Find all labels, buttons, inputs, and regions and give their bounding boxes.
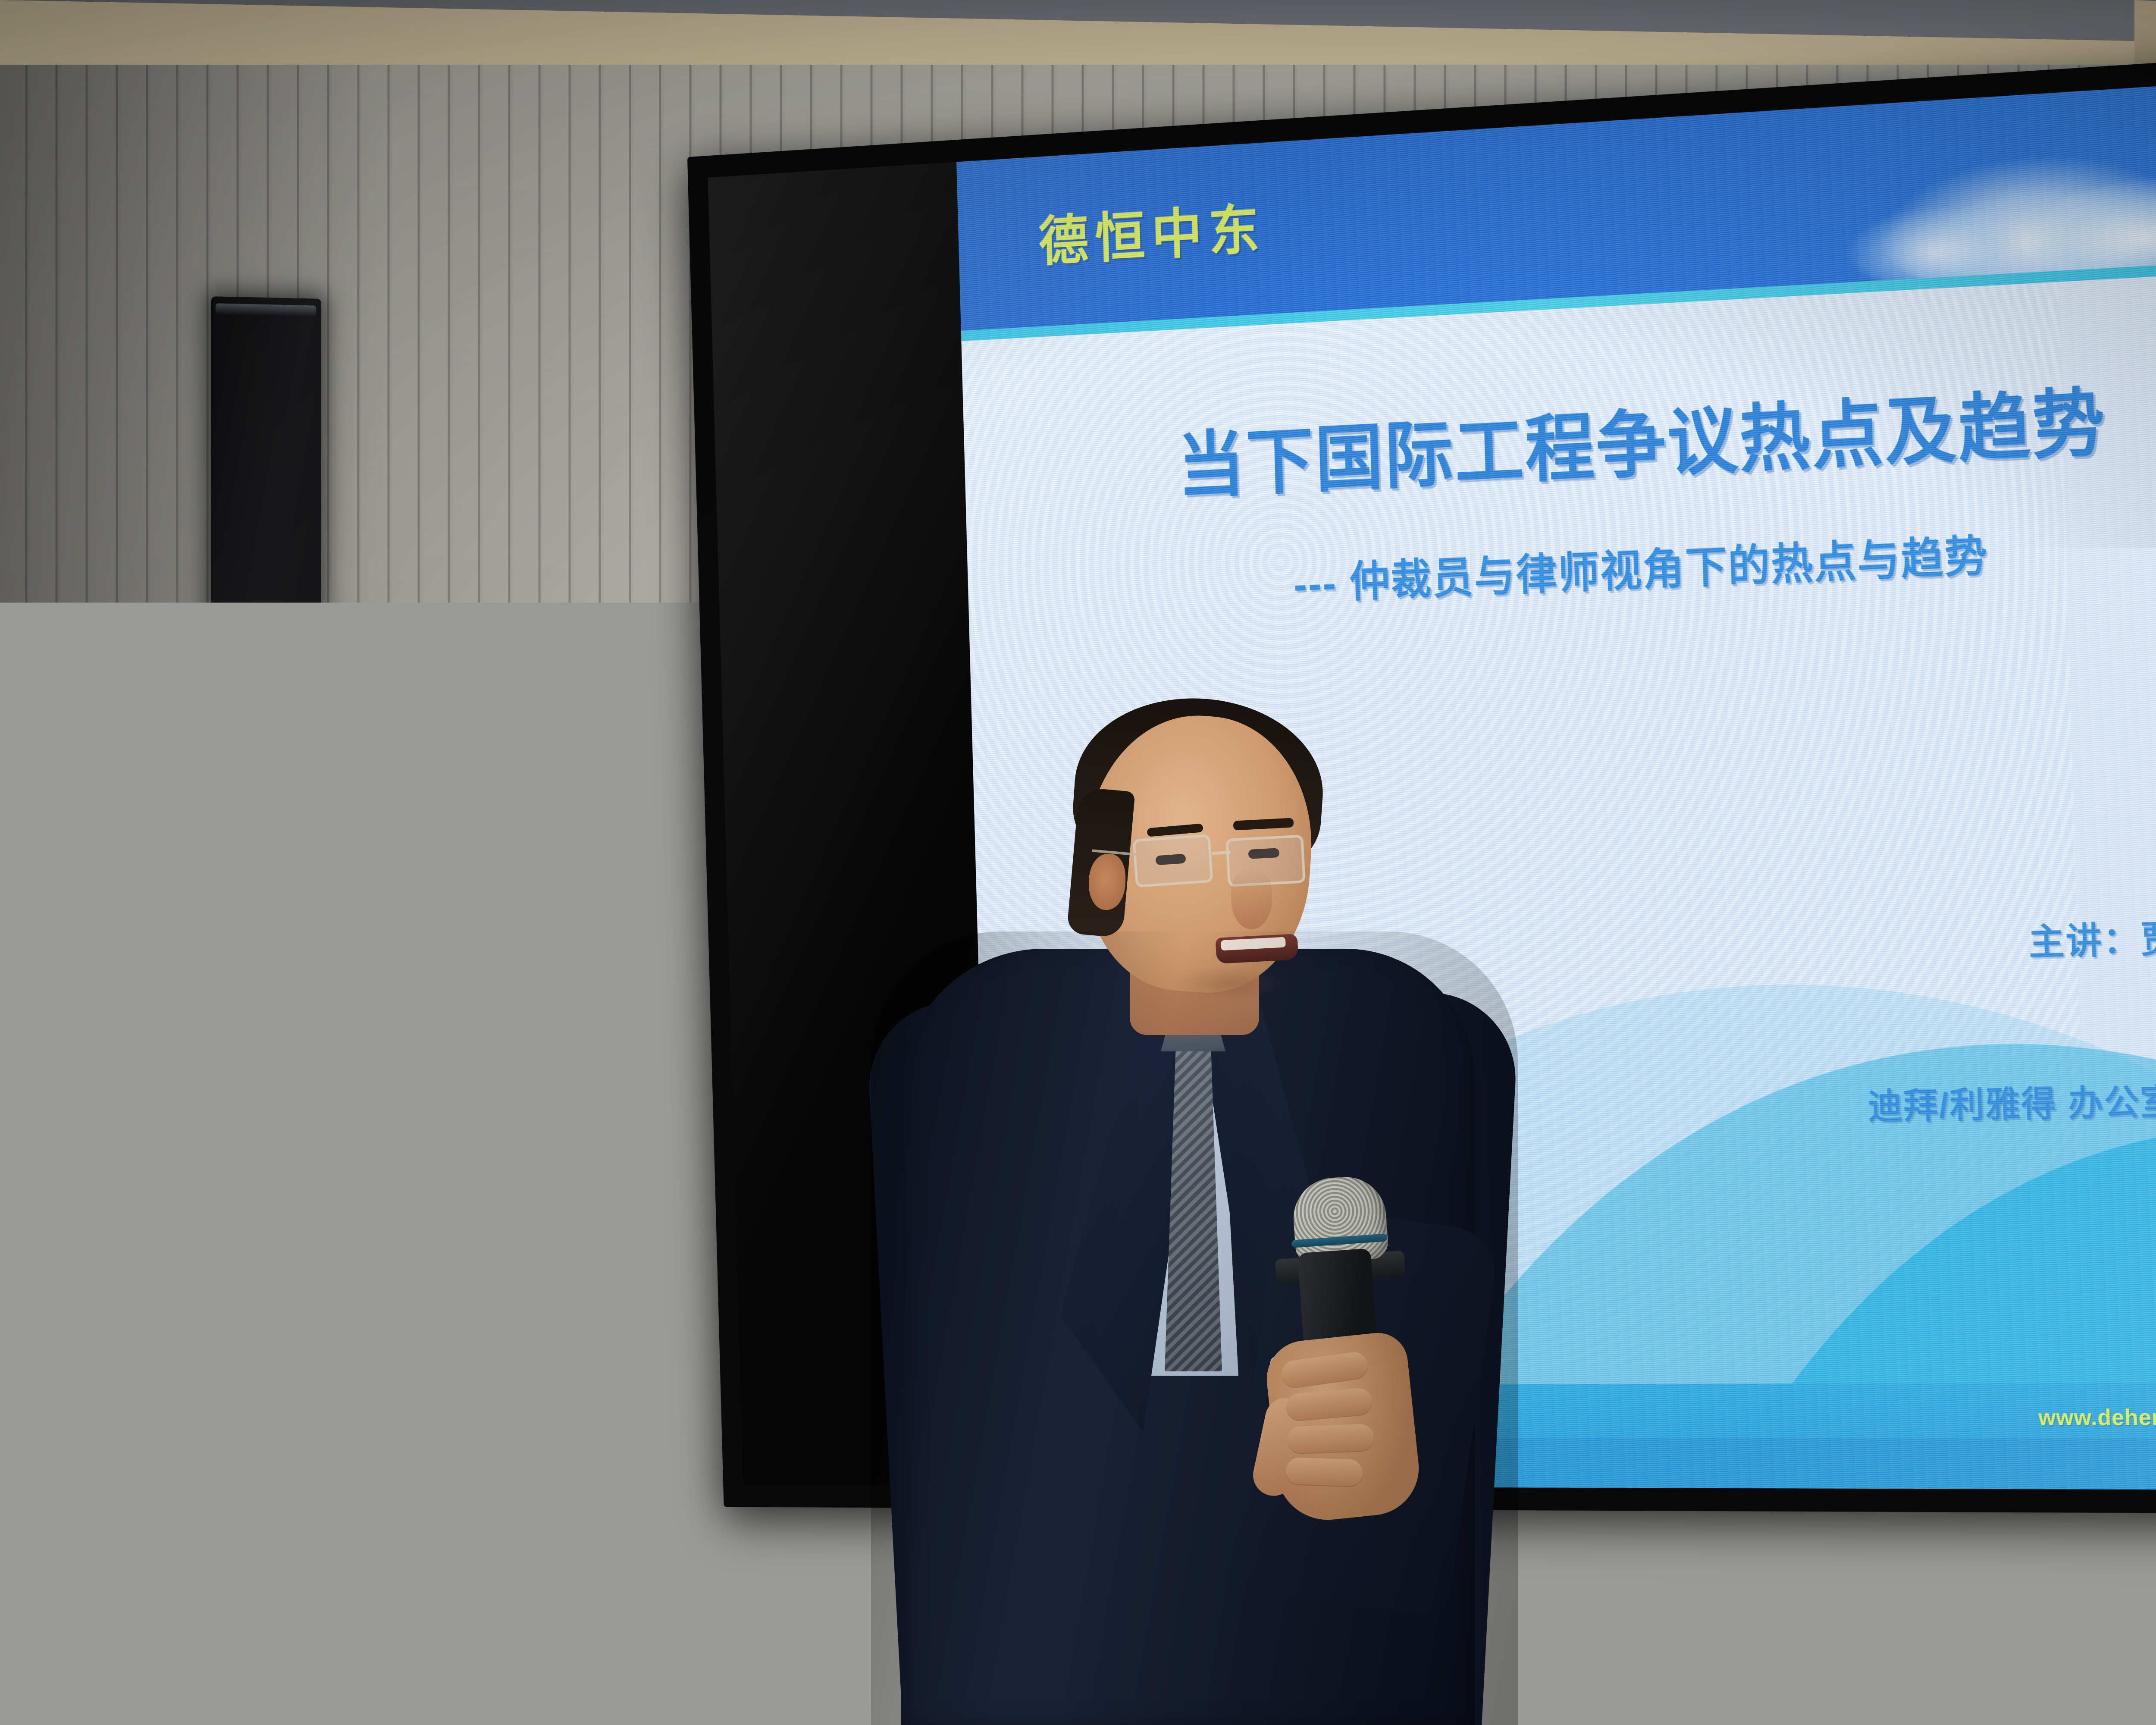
- nose: [1231, 869, 1272, 929]
- eyeglass-lens-left: [1132, 834, 1213, 888]
- mouth: [1216, 934, 1299, 964]
- floor-shadow: [0, 1337, 2156, 1725]
- chin-shadow: [1173, 966, 1285, 1000]
- ear: [1089, 854, 1125, 910]
- eyeglasses-icon: [1130, 837, 1319, 888]
- screenshot-root: ITC 德恒中东 保密: [0, 0, 2156, 1725]
- speaker-brand-badge: ITC: [253, 687, 280, 697]
- presenter-name: 主讲：贾怀远: [2028, 907, 2156, 966]
- brand-logo: 德恒中东: [1038, 185, 1267, 276]
- teeth: [1221, 937, 1286, 951]
- wall-speaker: ITC: [211, 296, 321, 928]
- presenter-role: 迪拜/利雅得 办公室 主任: [1868, 1072, 2156, 1129]
